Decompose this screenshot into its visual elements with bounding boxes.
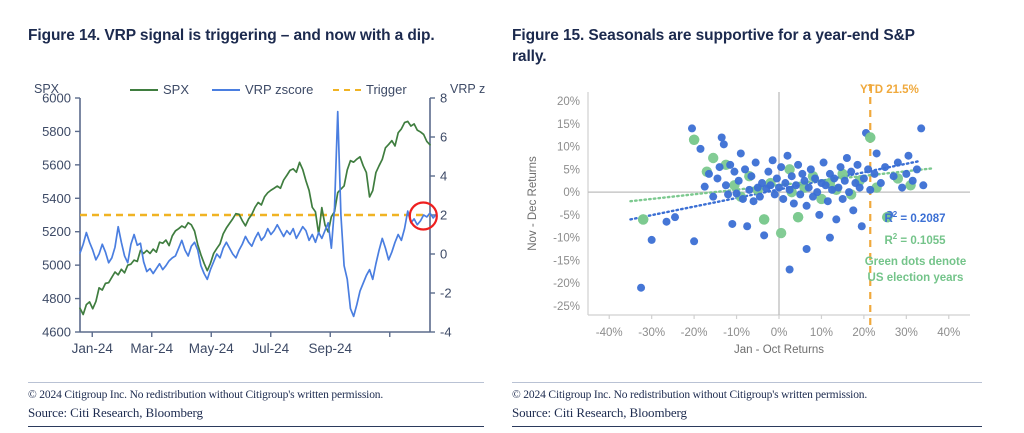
svg-text:Sep-24: Sep-24	[308, 341, 352, 356]
svg-text:Jul-24: Jul-24	[252, 341, 289, 356]
svg-text:5800: 5800	[42, 124, 71, 139]
green-note-line-2: US election years	[848, 272, 983, 284]
svg-text:2: 2	[440, 208, 447, 223]
svg-text:5200: 5200	[42, 224, 71, 239]
r2-blue-value: = 0.2087	[897, 213, 945, 225]
footer-divider-bottom	[512, 426, 982, 427]
svg-text:15%: 15%	[557, 119, 580, 131]
svg-text:Nov - Dec Returns: Nov - Dec Returns	[527, 156, 539, 251]
svg-text:20%: 20%	[852, 327, 875, 339]
svg-text:-15%: -15%	[553, 255, 580, 267]
svg-text:4600: 4600	[42, 325, 71, 340]
svg-text:-10%: -10%	[553, 233, 580, 245]
ytd-annotation: YTD 21.5%	[860, 84, 919, 96]
copyright-text: © 2024 Citigroup Inc. No redistribution …	[28, 388, 484, 404]
r2-green-annotation: R2 = 0.1055	[855, 232, 975, 247]
svg-text:5000: 5000	[42, 258, 71, 273]
svg-text:10%: 10%	[557, 142, 580, 154]
r2-blue-annotation: R2 = 0.2087	[855, 210, 975, 225]
svg-text:6: 6	[440, 130, 447, 145]
r2-green-prefix: R	[884, 235, 892, 247]
figure-14-chart: 6000580056005400520050004800460086420-2-…	[0, 0, 500, 360]
svg-text:-30%: -30%	[638, 327, 665, 339]
svg-text:6000: 6000	[42, 91, 71, 106]
svg-text:Jan - Oct Returns: Jan - Oct Returns	[734, 344, 824, 356]
figure-14-panel: Figure 14. VRP signal is triggering – an…	[0, 0, 500, 433]
svg-text:-25%: -25%	[553, 301, 580, 313]
svg-text:5600: 5600	[42, 157, 71, 172]
svg-text:-20%: -20%	[553, 278, 580, 290]
figure-15-panel: Figure 15. Seasonals are supportive for …	[500, 0, 1024, 433]
svg-text:4800: 4800	[42, 291, 71, 306]
figure-14-footer: © 2024 Citigroup Inc. No redistribution …	[28, 382, 484, 427]
svg-text:4: 4	[440, 169, 447, 184]
footer-divider-top	[28, 382, 484, 383]
svg-text:-20%: -20%	[681, 327, 708, 339]
svg-text:20%: 20%	[557, 96, 580, 108]
source-text: Source: Citi Research, Bloomberg	[512, 405, 982, 422]
svg-text:-5%: -5%	[560, 210, 580, 222]
r2-blue-prefix: R	[884, 213, 892, 225]
svg-text:-4: -4	[440, 325, 452, 340]
svg-text:30%: 30%	[895, 327, 918, 339]
figure-15-chart: 20%15%10%5%0%-5%-10%-15%-20%-25%-40%-30%…	[500, 0, 1024, 360]
svg-text:-10%: -10%	[723, 327, 750, 339]
svg-text:Jan-24: Jan-24	[72, 341, 114, 356]
svg-text:5%: 5%	[563, 164, 580, 176]
svg-text:-2: -2	[440, 286, 452, 301]
footer-divider-top	[512, 382, 982, 383]
copyright-text: © 2024 Citigroup Inc. No redistribution …	[512, 388, 982, 404]
footer-divider-bottom	[28, 426, 484, 427]
r2-green-value: = 0.1055	[897, 235, 945, 247]
source-text: Source: Citi Research, Bloomberg	[28, 405, 484, 422]
svg-text:5400: 5400	[42, 191, 71, 206]
svg-text:Mar-24: Mar-24	[130, 341, 173, 356]
svg-text:0%: 0%	[771, 327, 788, 339]
svg-text:May-24: May-24	[189, 341, 235, 356]
svg-text:0%: 0%	[563, 187, 580, 199]
figure-sheet: Figure 14. VRP signal is triggering – an…	[0, 0, 1024, 433]
svg-text:0: 0	[440, 247, 447, 262]
green-note-line-1: Green dots denote	[848, 256, 983, 268]
figure-15-footer: © 2024 Citigroup Inc. No redistribution …	[512, 382, 982, 427]
svg-text:8: 8	[440, 91, 447, 106]
svg-text:40%: 40%	[937, 327, 960, 339]
svg-text:10%: 10%	[810, 327, 833, 339]
svg-text:-40%: -40%	[596, 327, 623, 339]
